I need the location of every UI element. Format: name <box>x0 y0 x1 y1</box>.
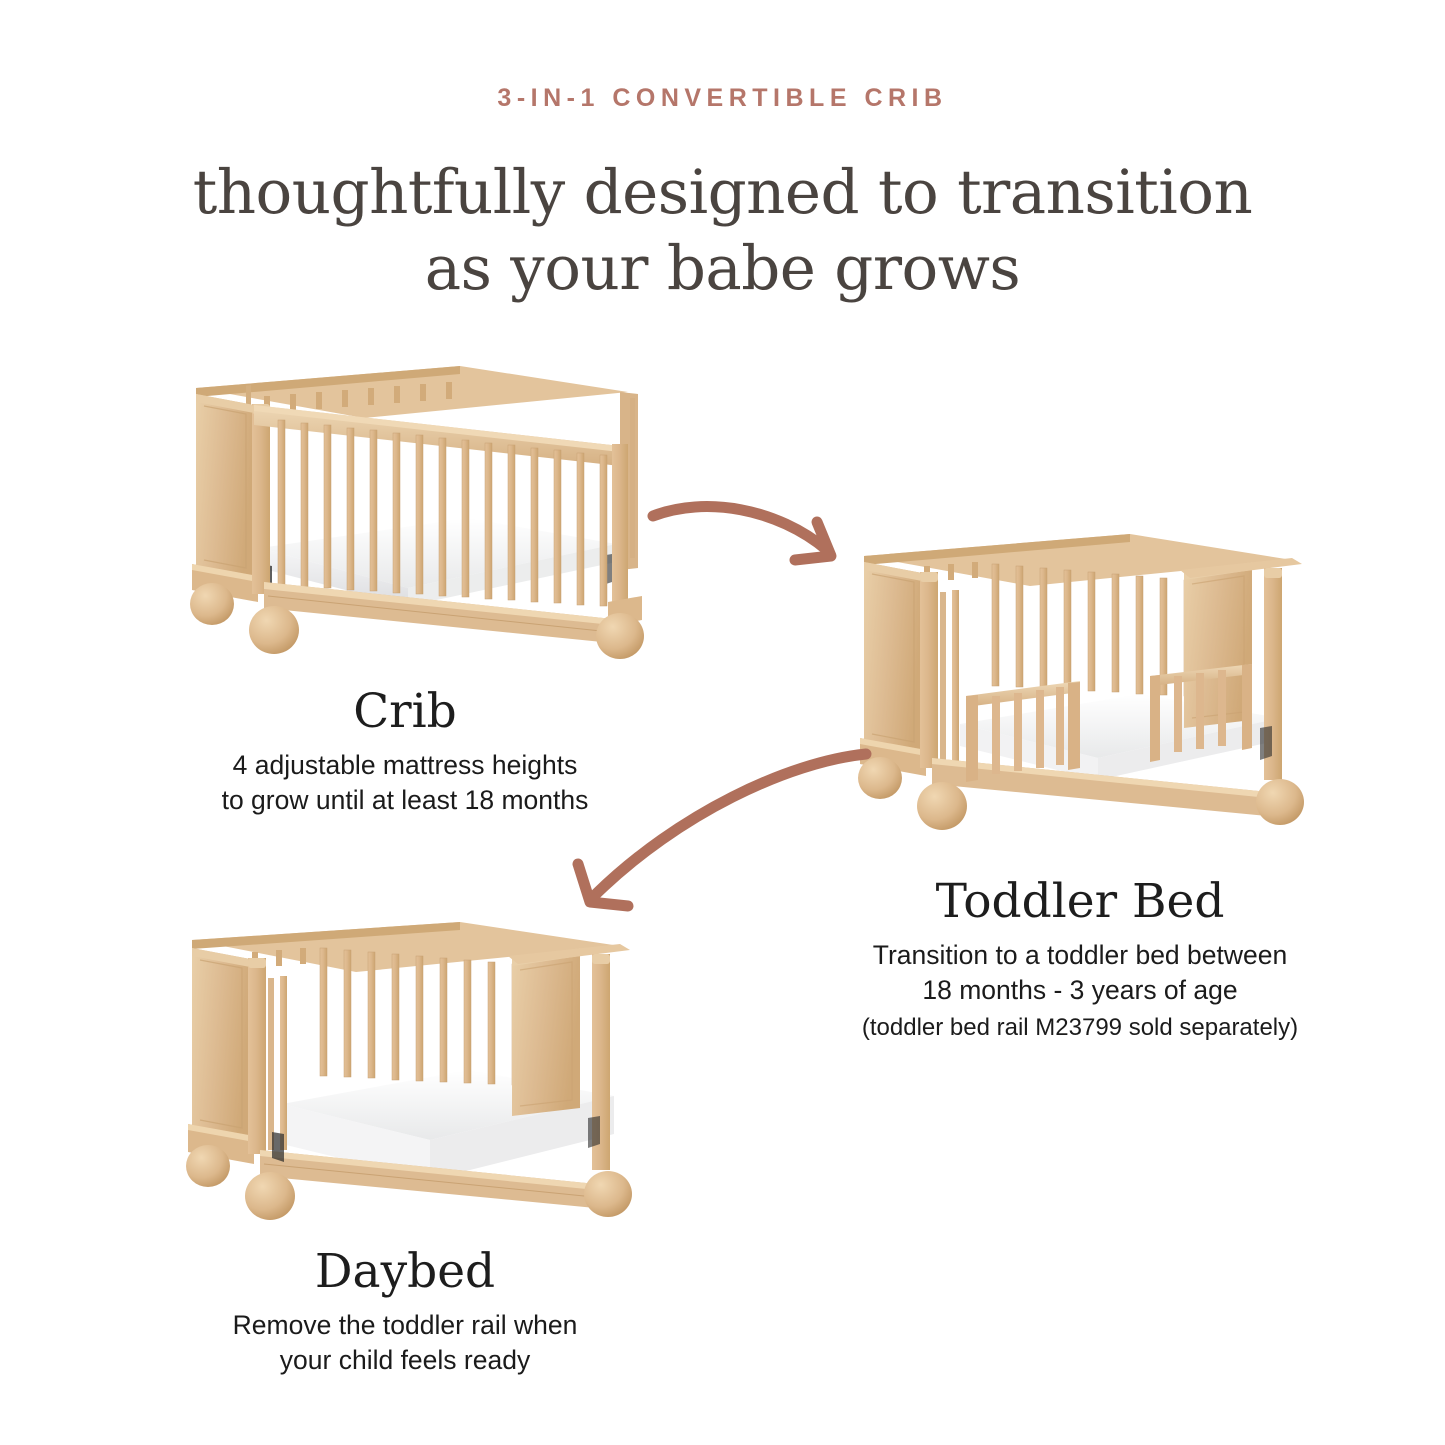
toddler-bed-caption: Toddler Bed Transition to a toddler bed … <box>810 873 1350 1044</box>
infographic-canvas: 3-IN-1 CONVERTIBLE CRIB thoughtfully des… <box>0 0 1445 1445</box>
daybed-subtitle: Remove the toddler rail when your child … <box>150 1308 660 1378</box>
toddler-bed-title: Toddler Bed <box>810 873 1350 931</box>
toddler-bed-subtitle-line-2: 18 months - 3 years of age <box>922 975 1237 1005</box>
toddler-bed-subtitle: Transition to a toddler bed between 18 m… <box>810 938 1350 1008</box>
daybed-illustration <box>168 918 638 1230</box>
arrow-toddler-to-daybed <box>548 722 878 922</box>
page-title: thoughtfully designed to transition as y… <box>0 155 1445 307</box>
toddler-bed-note: (toddler bed rail M23799 sold separately… <box>810 1011 1350 1044</box>
daybed-caption: Daybed Remove the toddler rail when your… <box>150 1243 660 1378</box>
crib-subtitle-line-2: to grow until at least 18 months <box>222 785 589 815</box>
headline-line-2: as your babe grows <box>0 231 1445 307</box>
daybed-title: Daybed <box>150 1243 660 1301</box>
headline-line-1: thoughtfully designed to transition <box>193 157 1253 228</box>
arrow-crib-to-toddler <box>645 478 865 588</box>
crib-subtitle-line-1: 4 adjustable mattress heights <box>233 750 578 780</box>
daybed-subtitle-line-2: your child feels ready <box>280 1345 530 1375</box>
eyebrow-label: 3-IN-1 CONVERTIBLE CRIB <box>0 84 1445 113</box>
toddler-bed-illustration <box>840 528 1310 840</box>
crib-illustration <box>168 358 648 668</box>
toddler-bed-subtitle-line-1: Transition to a toddler bed between <box>873 940 1287 970</box>
daybed-subtitle-line-1: Remove the toddler rail when <box>233 1310 578 1340</box>
